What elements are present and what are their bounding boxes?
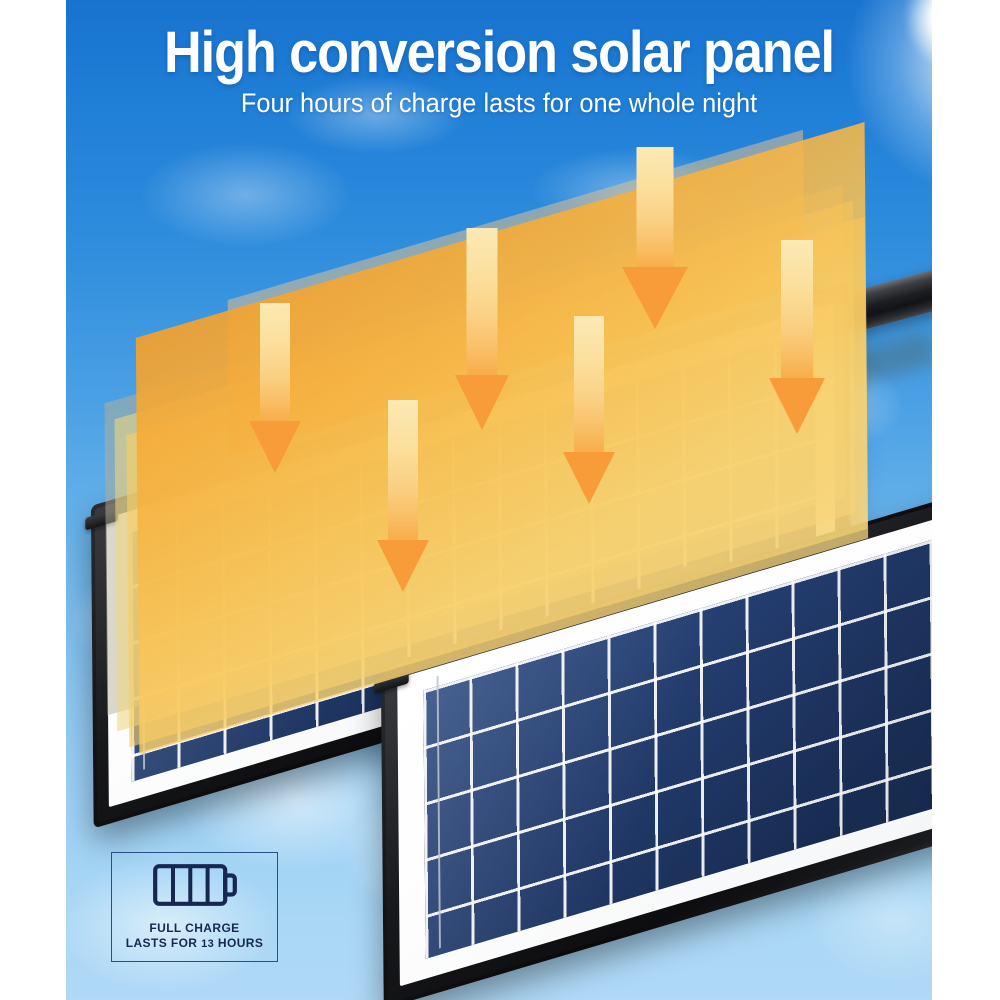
product-illustration: High conversion solar panel Four hours o… [66, 0, 932, 1000]
battery-full-icon [153, 864, 237, 911]
badge-line-2-suffix: HOURS [214, 936, 263, 950]
badge-line-1: FULL CHARGE [149, 921, 239, 936]
page-title: High conversion solar panel [109, 22, 888, 84]
badge-line-2: LASTS FOR 13 HOURS [126, 936, 263, 952]
headline-block: High conversion solar panel Four hours o… [66, 22, 932, 119]
badge-hours-number: 13 [201, 938, 214, 950]
image-canvas: High conversion solar panel Four hours o… [0, 0, 1000, 1000]
badge-line-2-prefix: LASTS FOR [126, 936, 201, 950]
full-charge-badge: FULL CHARGE LASTS FOR 13 HOURS [111, 852, 278, 962]
page-subtitle: Four hours of charge lasts for one whole… [92, 87, 906, 119]
